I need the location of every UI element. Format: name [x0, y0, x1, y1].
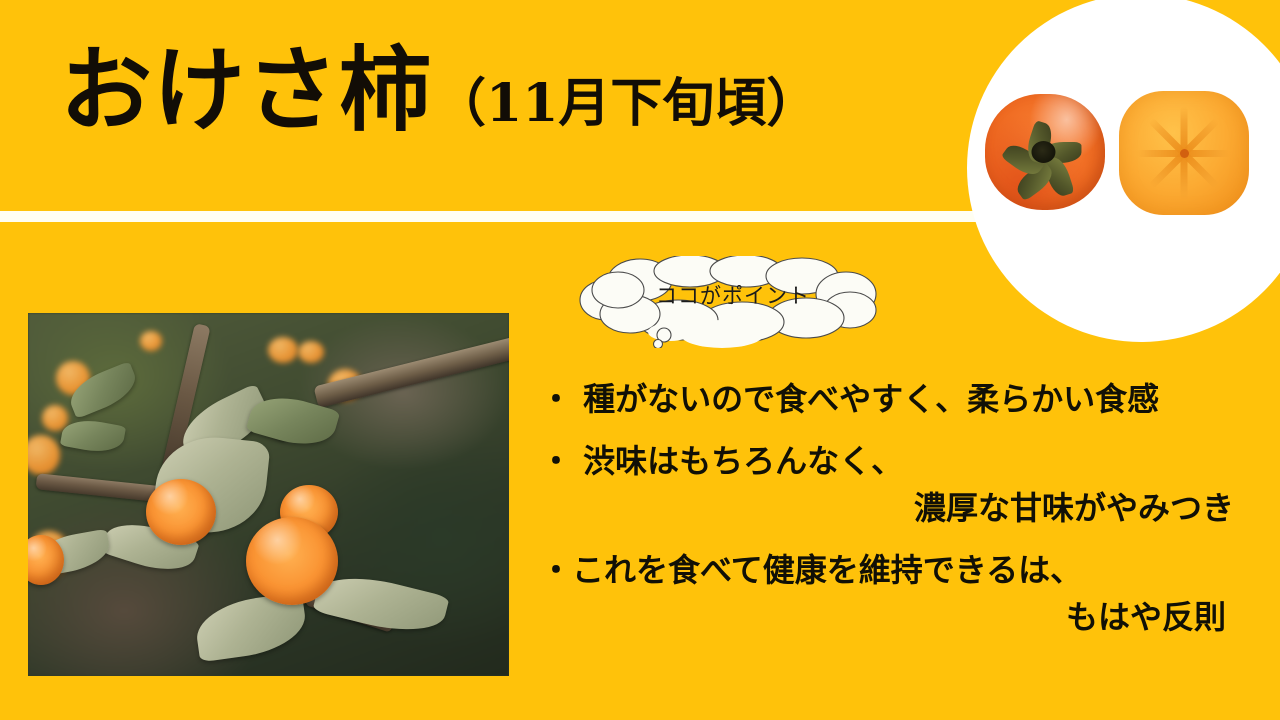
point-3-line-1: ・これを食べて健康を維持できるは、: [540, 547, 1270, 593]
persimmon-cross-section-icon: [1119, 91, 1249, 215]
callout-text: ココがポイント: [578, 256, 878, 334]
page-title: おけさ柿 （11月下旬頃）: [60, 44, 818, 138]
page-title-main: おけさ柿: [60, 44, 432, 138]
points-list: ・ 種がないので食べやすく、柔らかい食感 ・ 渋味はもちろんなく、 濃厚な甘味が…: [540, 376, 1270, 640]
page-title-season: （11月下旬頃）: [434, 78, 818, 138]
point-2-line-2: 濃厚な甘味がやみつき: [540, 485, 1270, 531]
point-2-line-1: ・ 渋味はもちろんなく、: [540, 438, 1270, 484]
callout-thought-bubble: ココがポイント: [578, 256, 878, 348]
product-photo-circle: [967, 0, 1280, 342]
point-item-2: ・ 渋味はもちろんなく、 濃厚な甘味がやみつき: [540, 438, 1270, 531]
slide-canvas: おけさ柿 （11月下旬頃）: [0, 0, 1280, 720]
point-3-line-2: もはや反則: [540, 594, 1270, 640]
point-item-3: ・これを食べて健康を維持できるは、 もはや反則: [540, 547, 1270, 640]
calyx-icon: [1005, 119, 1081, 185]
point-1-line-1: ・ 種がないので食べやすく、柔らかい食感: [540, 376, 1270, 422]
persimmon-whole-icon: [985, 94, 1105, 210]
point-item-1: ・ 種がないので食べやすく、柔らかい食感: [540, 376, 1270, 422]
orchard-photo: [28, 313, 509, 676]
